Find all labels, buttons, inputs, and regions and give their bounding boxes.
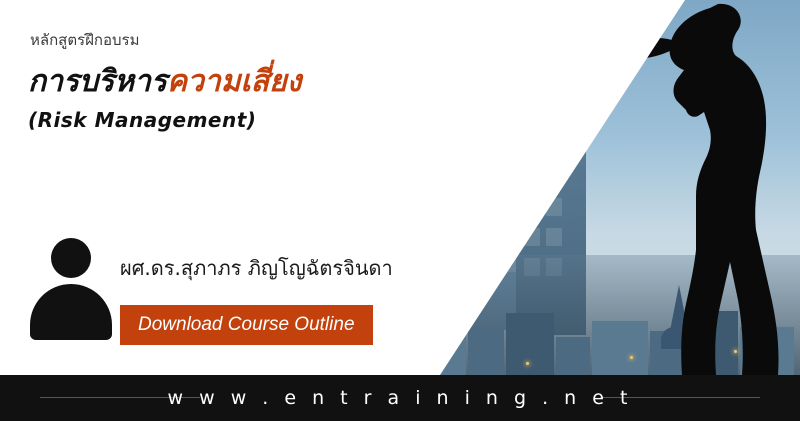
course-title-thai-part1: การบริหาร — [28, 64, 167, 99]
course-promo-banner: หลักสูตรฝึกอบรม การบริหารความเสี่ยง (Ris… — [0, 0, 800, 421]
user-avatar-icon — [28, 238, 114, 334]
course-title-english: (Risk Management) — [28, 108, 256, 132]
course-title-thai-part2: ความเสี่ยง — [167, 64, 301, 99]
kicker-label: หลักสูตรฝึกอบรม — [30, 28, 139, 52]
speaker-name: ผศ.ดร.สุภาภร ภิญโญฉัตรจินดา — [120, 252, 393, 284]
website-url[interactable]: w w w . e n t r a i n i n g . n e t — [0, 387, 800, 409]
avatar-head — [51, 238, 91, 278]
course-title-thai: การบริหารความเสี่ยง — [28, 58, 301, 105]
footer-bar: w w w . e n t r a i n i n g . n e t — [0, 375, 800, 421]
text-panel: หลักสูตรฝึกอบรม การบริหารความเสี่ยง (Ris… — [0, 0, 420, 375]
avatar-body — [30, 284, 112, 340]
download-course-outline-button[interactable]: Download Course Outline — [120, 305, 373, 345]
